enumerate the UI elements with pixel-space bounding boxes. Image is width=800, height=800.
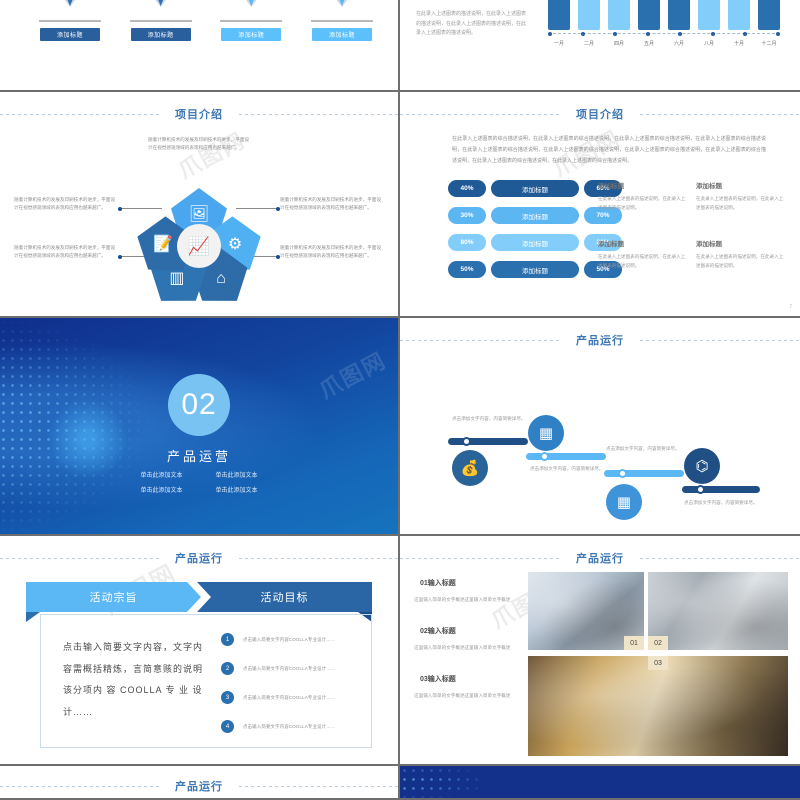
timeline-node[interactable] <box>696 485 705 494</box>
block-title: 添加标题 <box>696 238 784 248</box>
home-icon: ⌂ <box>216 271 226 287</box>
caption-right-1: 随着计算机技术的发展及印刷技术的进步，平面设计在视觉感观领域的表现和应用也越来越… <box>280 196 384 213</box>
photo-caption: 03输入标题 这里输入简单的文字概述这里输入简单文字概述 <box>414 674 532 700</box>
slide-thumbnail-8[interactable]: 产品运行 爪图网 01输入标题 这里输入简单的文字概述这里输入简单文字概述 02… <box>400 536 800 766</box>
block-body: 在此录入上述图表的描述说明，在此录入上述图表的描述说明。 <box>598 195 686 212</box>
caption-left-2: 随着计算机技术的发展及印刷技术的进步，平面设计在视觉感观领域的表现和应用也越来越… <box>14 244 118 261</box>
divider <box>39 20 101 22</box>
banner-tab-left <box>26 612 40 622</box>
section-subtitle: 单击此添加文本 <box>129 485 194 494</box>
add-title-button[interactable]: 添加标题 <box>131 28 191 41</box>
chart-axis-markers <box>548 31 780 37</box>
slide-header: 产品运行 <box>0 778 398 794</box>
chart-x-tick-labels: 一月 二月 四月 五月 六月 八月 十月 十二月 <box>548 40 780 50</box>
slide-thumbnail-9[interactable]: 产品运行 <box>0 766 400 800</box>
header-dash-left <box>400 114 560 115</box>
content-box: 点击输入简要文字内容，文字内容需概括精炼，言简意赅的说明该分项内 容 COOLL… <box>40 614 372 748</box>
caption-body: 这里输入简单的文字概述这里输入简单文字概述 <box>414 595 532 604</box>
caption-heading: 03输入标题 <box>414 674 532 684</box>
text-block: 添加标题 在此录入上述图表的描述说明，在此录入上述图表的描述说明。 <box>696 238 784 270</box>
list-number: 2 <box>221 662 234 675</box>
caption-body: 这里输入简单的文字概述这里输入简单文字概述 <box>414 643 532 652</box>
timeline-node[interactable] <box>540 452 549 461</box>
pentagon-diagram: 🖼 ⚙ ⌂ ▥ 📝 📈 <box>133 188 265 308</box>
photo-icon: 🖼 <box>189 207 209 223</box>
block-title: 添加标题 <box>598 180 686 190</box>
list-item[interactable]: 2 点击输入简要文字内容COOLLA专业设计…… <box>221 662 361 675</box>
halftone-pattern <box>400 766 480 798</box>
bar <box>728 0 750 30</box>
slide-grid: 添加标题 添加标题 添加标题 添加标题 在 <box>0 0 800 800</box>
percent-left: 40% <box>448 180 486 197</box>
header-dash-right <box>640 114 800 115</box>
timeline-node[interactable] <box>618 469 627 478</box>
timeline-bar <box>448 438 528 445</box>
bar-chart: 20% 10% % 一月 二月 四月 五月 六月 八月 十月 <box>548 0 780 42</box>
grid-squares-icon[interactable]: ▦ <box>528 415 564 451</box>
header-dash-left <box>0 114 159 115</box>
watermark: 爪图网 <box>172 123 251 185</box>
page-title: 项目介绍 <box>560 106 640 122</box>
caption-left-1: 随着计算机技术的发展及印刷技术的进步，平面设计在视觉感观领域的表现和应用也越来越… <box>14 196 118 213</box>
network-nodes-icon[interactable]: ⌬ <box>684 448 720 484</box>
divider <box>220 20 282 22</box>
header-dash-left <box>400 558 560 559</box>
x-tick: 十月 <box>728 40 750 50</box>
chevron-item[interactable]: 添加标题 <box>215 0 287 41</box>
section-subtitle: 单击此添加文本 <box>204 470 269 479</box>
percent-left: 30% <box>448 207 486 224</box>
slide-header: 项目介绍 <box>0 106 398 122</box>
bar-title[interactable]: 添加标题 <box>491 207 579 224</box>
bar <box>698 0 720 30</box>
chevron-item[interactable]: 添加标题 <box>34 0 106 41</box>
list-number: 4 <box>221 720 234 733</box>
bar-title[interactable]: 添加标题 <box>491 234 579 251</box>
slide-thumbnail-2[interactable]: 在此录入上述图表的描述说明，在此录入上述图表的描述说明，在此录入上述图表的描述说… <box>400 0 800 92</box>
growth-chart-icon: 📈 <box>177 224 221 268</box>
block-title: 添加标题 <box>696 180 784 190</box>
bar <box>668 0 690 30</box>
chart-description: 在此录入上述图表的描述说明，在此录入上述图表的描述说明，在此录入上述图表的描述说… <box>416 10 526 39</box>
section-subtitle: 单击此添加文本 <box>129 470 194 479</box>
header-dash-left <box>0 786 159 787</box>
x-tick: 十二月 <box>758 40 780 50</box>
slide-thumbnail-5[interactable]: 爪图网 02 产品运营 单击此添加文本 单击此添加文本 单击此添加文本 单击此添… <box>0 318 400 536</box>
timeline: 💰 点击添加文字内容，内容简要详尽。 ▦ 点击添加文字内容，内容简要详尽。 ▦ … <box>400 318 800 534</box>
chart-bars: 20% 10% % <box>548 0 780 30</box>
add-title-button[interactable]: 添加标题 <box>312 28 372 41</box>
photo-caption: 02输入标题 这里输入简单的文字概述这里输入简单文字概述 <box>414 626 532 652</box>
page-title: 项目介绍 <box>159 106 239 122</box>
bar-title[interactable]: 添加标题 <box>491 180 579 197</box>
slide-thumbnail-4[interactable]: 项目介绍 爪图网 在此录入上述图表的综合描述说明，在此录入上述图表的综合描述说明… <box>400 92 800 318</box>
bar <box>608 0 630 30</box>
slide-thumbnail-3[interactable]: 项目介绍 爪图网 随着计算机技术的发展及印刷技术的进步，平面设计在视觉感观领域的… <box>0 92 400 318</box>
photo-caption: 01输入标题 这里输入简单的文字概述这里输入简单文字概述 <box>414 578 532 604</box>
photo-number: 03 <box>648 656 668 670</box>
x-tick: 四月 <box>608 40 630 50</box>
banner-right[interactable]: 活动目标 <box>197 582 372 612</box>
chevron-item[interactable]: 添加标题 <box>125 0 197 41</box>
x-tick: 一月 <box>548 40 570 50</box>
section-title: 产品运营 <box>0 446 398 465</box>
timeline-bar <box>604 470 684 477</box>
block-body: 在此录入上述图表的描述说明，在此录入上述图表的描述说明。 <box>696 195 784 212</box>
chevron-down-icon <box>136 0 186 16</box>
block-title: 添加标题 <box>598 238 686 248</box>
timeline-text: 点击添加文字内容，内容简要详尽。 <box>684 498 760 507</box>
percent-left: 50% <box>448 261 486 278</box>
list-item[interactable]: 1 点击输入简要文字内容COOLLA专业设计…… <box>221 633 361 646</box>
list-text: 点击输入简要文字内容COOLLA专业设计…… <box>243 637 335 643</box>
content-right: 1 点击输入简要文字内容COOLLA专业设计…… 2 点击输入简要文字内容COO… <box>217 615 371 747</box>
slide-header: 产品运行 <box>0 550 398 566</box>
timeline-text: 点击添加文字内容，内容简要详尽。 <box>530 464 606 473</box>
grid-squares-icon[interactable]: ▦ <box>606 484 642 520</box>
chevron-down-icon <box>226 0 276 16</box>
text-block: 添加标题 在此录入上述图表的描述说明，在此录入上述图表的描述说明。 <box>598 238 686 270</box>
chevron-item[interactable]: 添加标题 <box>306 0 378 41</box>
header-dash-left <box>0 558 159 559</box>
section-subtitle: 单击此添加文本 <box>204 485 269 494</box>
photo-overlay <box>528 656 788 756</box>
block-body: 在此录入上述图表的描述说明，在此录入上述图表的描述说明。 <box>696 253 784 270</box>
slide-header: 产品运行 <box>400 550 800 566</box>
money-bag-icon[interactable]: 💰 <box>452 450 488 486</box>
slide-thumbnail-1[interactable]: 添加标题 添加标题 添加标题 添加标题 <box>0 0 400 92</box>
chevron-down-icon <box>317 0 367 16</box>
template-preview-sheet: 添加标题 添加标题 添加标题 添加标题 在 <box>0 0 800 800</box>
x-tick: 五月 <box>638 40 660 50</box>
slide-thumbnail-7[interactable]: 产品运行 爪图网 活动宗旨 活动目标 点击输入简要文字内容，文字内容需概括精炼，… <box>0 536 400 766</box>
page-title: 产品运行 <box>159 550 239 566</box>
header-dash-right <box>640 558 800 559</box>
add-title-button[interactable]: 添加标题 <box>40 28 100 41</box>
caption-heading: 01输入标题 <box>414 578 532 588</box>
text-block-grid: 添加标题 在此录入上述图表的描述说明，在此录入上述图表的描述说明。 添加标题 在… <box>598 180 784 271</box>
photo-desk-coffee[interactable]: 03 <box>528 656 788 756</box>
document-pen-icon: 📝 <box>153 237 173 253</box>
caption-body: 这里输入简单的文字概述这里输入简单文字概述 <box>414 691 532 700</box>
halftone-pattern <box>0 318 150 534</box>
header-dash-right <box>239 786 398 787</box>
timeline-bar <box>682 486 760 493</box>
banner-row: 活动宗旨 活动目标 <box>26 582 372 612</box>
list-text: 点击输入简要文字内容COOLLA专业设计…… <box>243 724 335 730</box>
page-title: 产品运行 <box>159 778 239 794</box>
x-tick: 八月 <box>698 40 720 50</box>
gear-icon: ⚙ <box>228 237 242 253</box>
divider <box>311 20 373 22</box>
slide-header: 项目介绍 <box>400 106 800 122</box>
bar-chart-icon: ▥ <box>169 271 184 287</box>
photo-number: 02 <box>648 636 668 650</box>
intro-paragraph: 在此录入上述图表的综合描述说明，在此录入上述图表的综合描述说明，在此录入上述图表… <box>452 134 766 167</box>
slide-thumbnail-10[interactable] <box>400 766 800 800</box>
slide-thumbnail-6[interactable]: 产品运行 💰 点击添加文字内容，内容简要详尽。 ▦ 点击添加文字内容，内容简要详… <box>400 318 800 536</box>
photo-caption-list: 01输入标题 这里输入简单的文字概述这里输入简单文字概述 02输入标题 这里输入… <box>414 578 532 723</box>
header-dash-right <box>239 558 398 559</box>
chevron-row: 添加标题 添加标题 添加标题 添加标题 <box>34 0 378 41</box>
x-tick: 二月 <box>578 40 600 50</box>
list-item[interactable]: 3 点击输入简要文字内容COOLLA专业设计…… <box>221 691 361 704</box>
add-title-button[interactable]: 添加标题 <box>221 28 281 41</box>
caption-heading: 02输入标题 <box>414 626 532 636</box>
bar: % <box>758 0 780 30</box>
x-tick: 六月 <box>668 40 690 50</box>
page-title: 产品运行 <box>560 550 640 566</box>
bar: 10% <box>578 0 600 30</box>
photo-number: 01 <box>624 636 644 650</box>
text-block: 添加标题 在此录入上述图表的描述说明，在此录入上述图表的描述说明。 <box>696 180 784 212</box>
percent-left: 80% <box>448 234 486 251</box>
bar <box>638 0 660 30</box>
caption-top: 随着计算机技术的发展及印刷技术的进步，平面设计在视觉感观领域的表现和应用也越来越… <box>148 136 252 153</box>
caption-right-2: 随着计算机技术的发展及印刷技术的进步，平面设计在视觉感观领域的表现和应用也越来越… <box>280 244 384 261</box>
block-body: 在此录入上述图表的描述说明，在此录入上述图表的描述说明。 <box>598 253 686 270</box>
chevron-down-icon <box>45 0 95 16</box>
content-left: 点击输入简要文字内容，文字内容需概括精炼，言简意赅的说明该分项内 容 COOLL… <box>41 615 217 747</box>
page-number: 7 <box>789 304 792 310</box>
list-number: 3 <box>221 691 234 704</box>
banner-left[interactable]: 活动宗旨 <box>26 582 201 612</box>
section-number: 02 <box>168 374 230 436</box>
header-dash-right <box>239 114 398 115</box>
timeline-bar <box>526 453 606 460</box>
photo-overlay <box>648 572 788 650</box>
divider <box>130 20 192 22</box>
bar: 20% <box>548 0 570 30</box>
timeline-text: 点击添加文字内容，内容简要详尽。 <box>606 444 682 453</box>
list-text: 点击输入简要文字内容COOLLA专业设计…… <box>243 695 335 701</box>
text-block: 添加标题 在此录入上述图表的描述说明，在此录入上述图表的描述说明。 <box>598 180 686 212</box>
body-text: 点击输入简要文字内容，文字内容需概括精炼，言简意赅的说明该分项内 容 COOLL… <box>63 637 203 723</box>
list-item[interactable]: 4 点击输入简要文字内容COOLLA专业设计…… <box>221 720 361 733</box>
list-text: 点击输入简要文字内容COOLLA专业设计…… <box>243 666 335 672</box>
section-subtitles: 单击此添加文本 单击此添加文本 单击此添加文本 单击此添加文本 <box>129 470 269 494</box>
photo-handshake-office[interactable]: 01 <box>528 572 644 650</box>
bar-title[interactable]: 添加标题 <box>491 261 579 278</box>
timeline-node[interactable] <box>462 437 471 446</box>
list-number: 1 <box>221 633 234 646</box>
timeline-text: 点击添加文字内容，内容简要详尽。 <box>452 414 528 423</box>
photo-handshake-construction[interactable]: 02 <box>648 572 788 650</box>
